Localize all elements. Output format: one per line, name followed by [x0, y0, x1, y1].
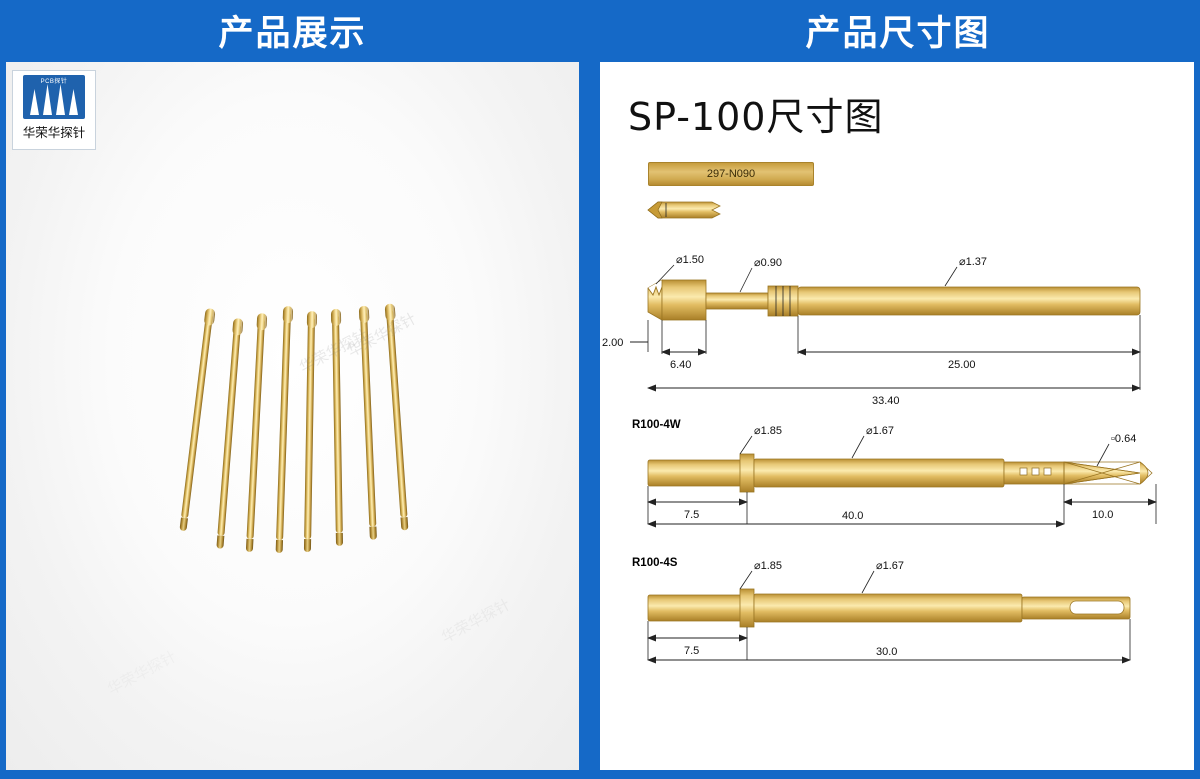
right-panel-body: SP-100尺寸图 297-N090 — [600, 62, 1194, 770]
dim-3340: 33.40 — [872, 395, 900, 407]
dim-w-100: 10.0 — [1092, 509, 1113, 521]
logo-mark-icon: PCB探针 — [23, 75, 85, 119]
logo-mini-text: PCB探针 — [35, 78, 73, 87]
figure-r100-4s: R100-4S ⌀1.85 ⌀1.67 7.5 — [632, 557, 1130, 660]
product-photo-panel: 产品展示 — [0, 0, 585, 779]
left-panel-body: 华荣华探针 华荣华探针 华荣华探针 华荣华探针 PCB探针 华荣华探针 — [6, 62, 579, 770]
dim-640: 6.40 — [670, 359, 691, 371]
figure-r100-4w: R100-4W ⌀1.85 ⌀1.67 — [632, 419, 1156, 524]
dimension-drawing-svg: ⌀1.50 ⌀0.90 ⌀1.37 2.00 6.4 — [600, 62, 1194, 770]
dim-d150: ⌀1.50 — [676, 254, 704, 266]
dim-w-400: 40.0 — [842, 510, 863, 522]
logo-brand-text: 华荣华探针 — [23, 122, 86, 141]
figure-main: ⌀1.50 ⌀0.90 ⌀1.37 2.00 6.4 — [602, 254, 1140, 407]
figure-3-title: R100-4S — [632, 557, 678, 569]
dim-w-d167: ⌀1.67 — [866, 425, 894, 437]
dim-200: 2.00 — [602, 337, 623, 349]
product-photo: 华荣华探针 华荣华探针 华荣华探针 华荣华探针 — [6, 62, 579, 770]
dim-s-75: 7.5 — [684, 645, 699, 657]
dim-w-d185: ⌀1.85 — [754, 425, 782, 437]
left-panel-header: 产品展示 — [0, 0, 585, 60]
dim-d090: ⌀0.90 — [754, 257, 782, 269]
dimension-drawing-panel: 产品尺寸图 SP-100尺寸图 297-N090 — [596, 0, 1200, 779]
figure-2-title: R100-4W — [632, 419, 681, 431]
dim-w-d064: ▫0.64 — [1111, 433, 1136, 445]
watermark-4: 华荣华探针 — [103, 646, 179, 700]
watermark-3: 华荣华探针 — [437, 594, 513, 648]
probe-tip-icon — [648, 202, 720, 218]
dim-d137: ⌀1.37 — [959, 256, 987, 268]
dim-s-300: 30.0 — [876, 646, 897, 658]
company-logo: PCB探针 华荣华探针 — [12, 70, 96, 150]
right-panel-header: 产品尺寸图 — [596, 0, 1200, 60]
page-root: 产品展示 — [0, 0, 1200, 779]
dim-2500: 25.00 — [948, 359, 976, 371]
dim-s-d167: ⌀1.67 — [876, 560, 904, 572]
dim-s-d185: ⌀1.85 — [754, 560, 782, 572]
dim-w-75: 7.5 — [684, 509, 699, 521]
